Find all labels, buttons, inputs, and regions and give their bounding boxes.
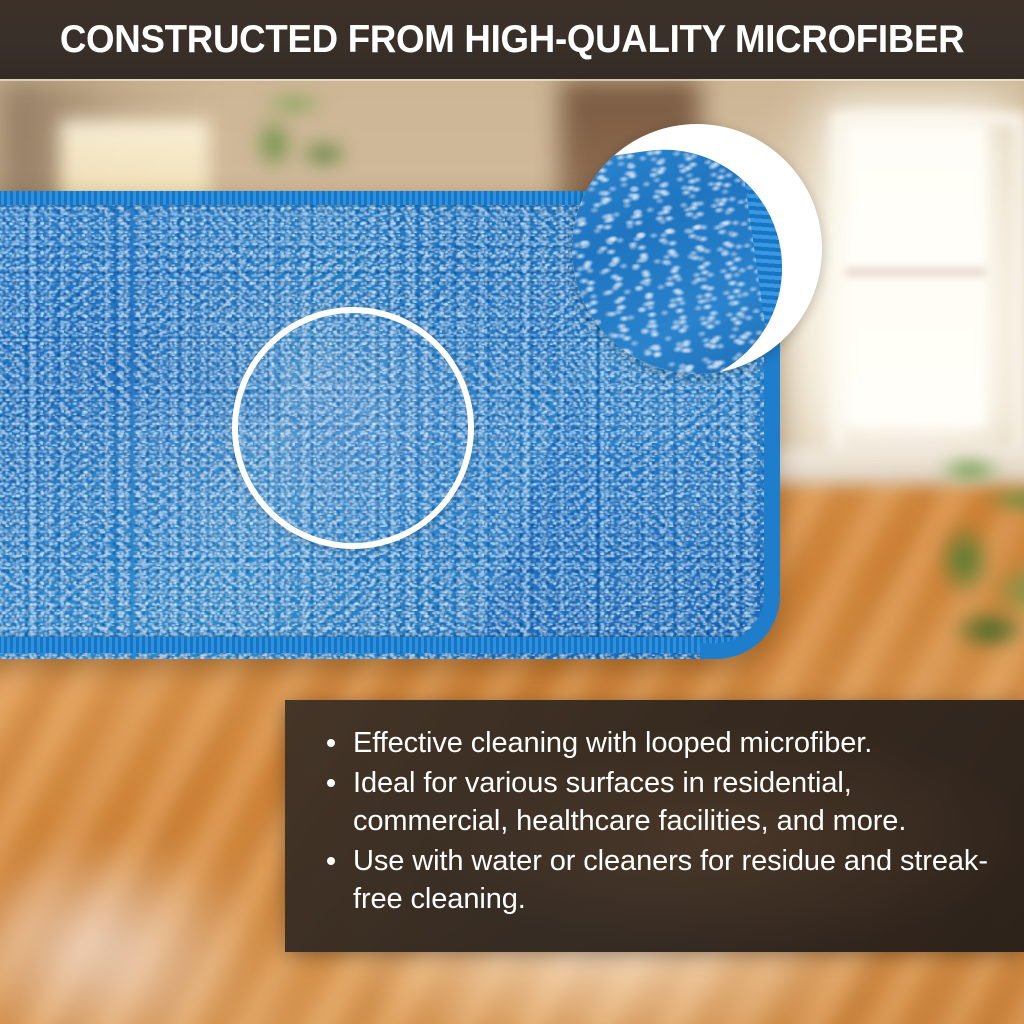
window [846, 126, 986, 426]
house-plant-icon [930, 430, 1024, 660]
bullet-dot-icon [327, 857, 335, 865]
product-infographic: CONSTRUCTED FROM HIGH-QUALITY MICROFIBER… [0, 0, 1024, 1024]
list-item: Use with water or cleaners for residue a… [327, 842, 996, 918]
feature-text: Use with water or cleaners for residue a… [353, 845, 988, 915]
feature-text: Effective cleaning with looped microfibe… [353, 727, 872, 759]
list-item: Ideal for various surfaces in residentia… [327, 764, 996, 840]
bullet-dot-icon [327, 739, 335, 747]
window-mullion [846, 268, 986, 276]
background-plant-top-icon [244, 84, 364, 194]
corner-closeup-lens [572, 134, 797, 374]
corner-closeup-circle [572, 124, 822, 374]
pad-binding-bottom [0, 637, 740, 653]
fiber-closeup-circle [232, 307, 474, 549]
fiber-closeup-lens [238, 313, 468, 543]
feature-text: Ideal for various surfaces in residentia… [353, 767, 906, 837]
list-item: Effective cleaning with looped microfibe… [327, 724, 996, 762]
feature-list: Effective cleaning with looped microfibe… [327, 724, 996, 918]
page-title: CONSTRUCTED FROM HIGH-QUALITY MICROFIBER [60, 20, 965, 59]
header-bar: CONSTRUCTED FROM HIGH-QUALITY MICROFIBER [0, 0, 1024, 79]
floor-highlight-left [0, 840, 260, 1024]
bullet-dot-icon [327, 779, 335, 787]
features-panel: Effective cleaning with looped microfibe… [285, 700, 1024, 952]
